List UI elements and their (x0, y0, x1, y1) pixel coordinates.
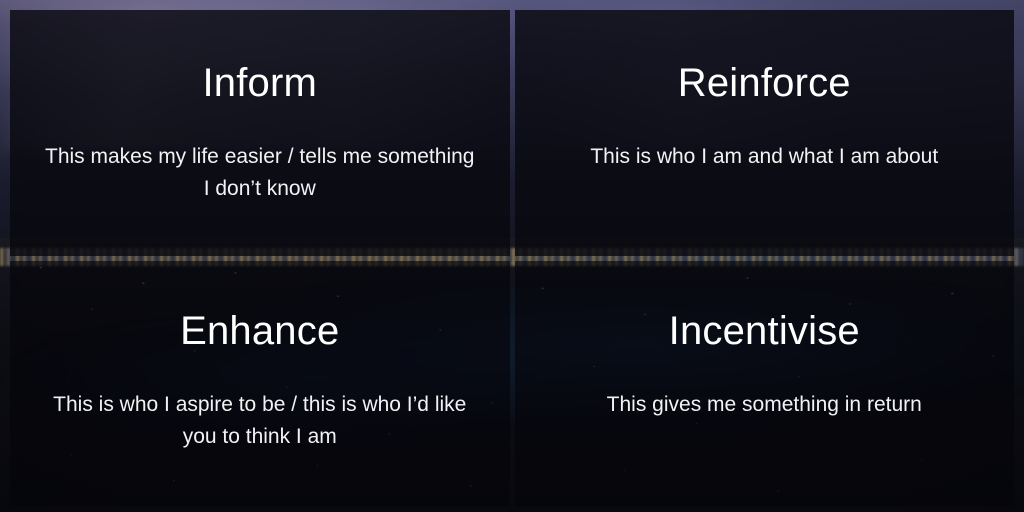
quadrant-inform[interactable]: Inform This makes my life easier / tells… (10, 10, 510, 256)
quadrant-body-reinforce: This is who I am and what I am about (564, 141, 964, 173)
quadrant-title-inform: Inform (202, 63, 317, 103)
quadrant-grid: Inform This makes my life easier / tells… (10, 10, 1014, 506)
quadrant-title-reinforce: Reinforce (678, 63, 851, 103)
quadrant-body-inform: This makes my life easier / tells me som… (19, 141, 501, 205)
quadrant-graphic: Inform This makes my life easier / tells… (0, 0, 1024, 512)
quadrant-title-enhance: Enhance (180, 311, 339, 351)
quadrant-body-enhance: This is who I aspire to be / this is who… (19, 389, 501, 453)
quadrant-reinforce[interactable]: Reinforce This is who I am and what I am… (515, 10, 1015, 256)
quadrant-enhance[interactable]: Enhance This is who I aspire to be / thi… (10, 261, 510, 507)
quadrant-title-incentivise: Incentivise (669, 311, 860, 351)
quadrant-body-incentivise: This gives me something in return (581, 389, 948, 421)
quadrant-incentivise[interactable]: Incentivise This gives me something in r… (515, 261, 1015, 507)
